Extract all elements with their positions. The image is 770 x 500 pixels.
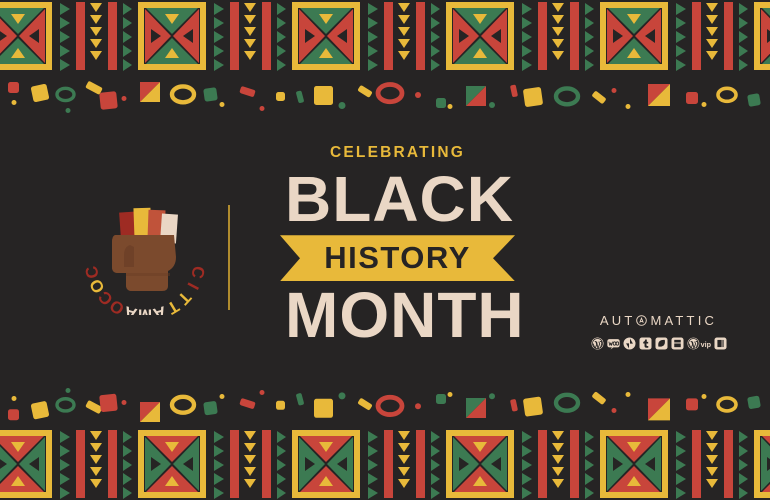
confetti-shape: [31, 84, 50, 103]
confetti-shape: [448, 104, 453, 109]
confetti-bottom-svg: [0, 383, 770, 428]
confetti-shape: [648, 84, 670, 106]
tribal-tile-svg: [0, 0, 132, 72]
confetti-shape: [260, 390, 265, 395]
confetti-shape: [122, 96, 127, 101]
headline-line-2: MONTH: [285, 285, 510, 346]
tumblr-icon[interactable]: [639, 337, 652, 350]
confetti-shape: [357, 85, 372, 98]
confetti-shape: [648, 398, 670, 420]
cocoamattic-logo-svg: COCOAMATTIC: [70, 185, 220, 315]
tribal-tile: [132, 0, 286, 72]
confetti-shape: [489, 393, 495, 399]
tribal-tile: [286, 428, 440, 500]
confetti-shape: [489, 102, 495, 108]
tribal-tile: [594, 0, 748, 72]
tribal-tile-svg: [132, 428, 286, 500]
tribal-tile: [0, 428, 132, 500]
confetti-shape: [276, 92, 285, 101]
tribal-tile: [132, 428, 286, 500]
tribal-tile-svg: [594, 0, 748, 72]
confetti-shape: [523, 396, 543, 416]
logo-letter: M: [138, 306, 152, 316]
confetti-shape: [556, 395, 578, 411]
vertical-divider: [228, 205, 230, 310]
tribal-tile-svg: [748, 428, 770, 500]
tribal-tile: [748, 428, 770, 500]
confetti-shape: [702, 102, 707, 107]
confetti-shape: [702, 394, 707, 399]
automattic-wordmark-tail: MATTIC: [650, 313, 717, 328]
confetti-shape: [8, 409, 19, 420]
tribal-tile: [748, 0, 770, 72]
poster-center: COCOAMATTIC CELE: [0, 117, 770, 383]
confetti-shape: [66, 388, 71, 393]
confetti-shape: [339, 102, 346, 109]
confetti-shape: [718, 398, 736, 411]
confetti-shape: [436, 394, 446, 404]
confetti-shape: [57, 88, 74, 100]
confetti-shape: [626, 392, 631, 397]
confetti-shape: [612, 408, 617, 413]
wordpress-icon[interactable]: [591, 337, 604, 350]
tribal-tile-svg: [132, 0, 286, 72]
confetti-shape: [203, 87, 218, 102]
tribal-tile: [0, 0, 132, 72]
confetti-shape: [612, 88, 617, 93]
confetti-shape: [591, 391, 606, 405]
confetti-shape: [378, 397, 402, 414]
circled-a-icon: [636, 315, 647, 326]
tribal-pattern-bottom: [0, 428, 770, 500]
tribal-tile-svg: [594, 428, 748, 500]
confetti-shape: [357, 398, 372, 411]
confetti-shape: [747, 93, 761, 107]
tribal-tile-svg: [440, 0, 594, 72]
confetti-shape: [12, 100, 17, 105]
raised-fist-icon: [112, 208, 178, 291]
confetti-shape: [296, 393, 305, 406]
tribal-tile-svg: [0, 428, 132, 500]
confetti-band-bottom: [0, 383, 770, 428]
confetti-shape: [122, 400, 127, 405]
confetti-shape: [172, 397, 194, 413]
confetti-shape: [466, 398, 486, 418]
simplenote-icon[interactable]: [655, 337, 668, 350]
confetti-shape: [747, 395, 761, 409]
ribbon-banner: HISTORY: [285, 235, 510, 281]
tribal-tile: [594, 428, 748, 500]
confetti-shape: [99, 91, 118, 110]
confetti-shape: [172, 86, 194, 102]
confetti-shape: [239, 398, 255, 409]
cocoamattic-logo[interactable]: COCOAMATTIC: [70, 185, 220, 315]
headline-block: CELEBRATING BLACK HISTORY MONTH: [285, 145, 510, 346]
confetti-shape: [8, 82, 19, 93]
confetti-shape: [12, 396, 17, 401]
tribal-tile-svg: [286, 428, 440, 500]
confetti-shape: [556, 88, 578, 104]
confetti-shape: [239, 86, 255, 97]
confetti-shape: [140, 402, 160, 422]
confetti-shape: [591, 90, 606, 104]
confetti-shape: [99, 394, 118, 413]
confetti-shape: [448, 392, 453, 397]
confetti-shape: [203, 401, 218, 416]
confetti-shape: [296, 90, 305, 103]
confetti-shape: [314, 86, 333, 105]
ribbon-text: HISTORY: [280, 235, 515, 281]
tribal-tile-svg: [286, 0, 440, 72]
confetti-shape: [686, 398, 698, 410]
confetti-shape: [415, 92, 421, 98]
confetti-top-svg: [0, 72, 770, 117]
automattic-wordmark-head: AUT: [600, 313, 636, 328]
tribal-tile: [440, 0, 594, 72]
confetti-shape: [57, 399, 74, 411]
automattic-lockup[interactable]: AUT MATTIC: [586, 313, 731, 350]
automattic-wordmark: AUT MATTIC: [586, 313, 731, 328]
confetti-shape: [523, 87, 543, 107]
confetti-shape: [436, 98, 446, 108]
tribal-tile: [440, 428, 594, 500]
tribal-pattern-top: [0, 0, 770, 72]
confetti-shape: [31, 401, 50, 420]
confetti-shape: [314, 399, 333, 418]
woocommerce-icon[interactable]: [607, 337, 620, 350]
confetti-shape: [510, 399, 518, 412]
confetti-shape: [66, 108, 71, 113]
confetti-band-top: [0, 72, 770, 117]
confetti-shape: [378, 84, 402, 101]
jetpack-icon[interactable]: [623, 337, 636, 350]
confetti-shape: [220, 102, 225, 107]
confetti-shape: [510, 84, 518, 97]
confetti-shape: [466, 86, 486, 106]
pocketcasts-icon[interactable]: [714, 337, 727, 350]
headline-line-1: BLACK: [285, 169, 510, 230]
confetti-shape: [220, 394, 225, 399]
svg-text:vip: vip: [700, 340, 710, 349]
confetti-shape: [339, 392, 346, 399]
brand-icon-row: vip: [586, 337, 731, 350]
eyebrow-text: CELEBRATING: [285, 145, 510, 161]
confetti-shape: [276, 401, 285, 410]
confetti-shape: [626, 104, 631, 109]
logo-letter: C: [187, 264, 208, 280]
tribal-tile-svg: [748, 0, 770, 72]
tribal-tile: [286, 0, 440, 72]
confetti-shape: [718, 88, 736, 101]
tribal-tile-svg: [440, 428, 594, 500]
confetti-shape: [85, 81, 103, 95]
logo-letter: I: [183, 280, 202, 293]
confetti-shape: [686, 92, 698, 104]
wordpress-vip-icon[interactable]: vip: [687, 337, 711, 350]
confetti-shape: [140, 82, 160, 102]
dayone-icon[interactable]: [671, 337, 684, 350]
poster-canvas: COCOAMATTIC CELE: [0, 0, 770, 500]
confetti-shape: [415, 403, 421, 409]
confetti-shape: [260, 106, 265, 111]
